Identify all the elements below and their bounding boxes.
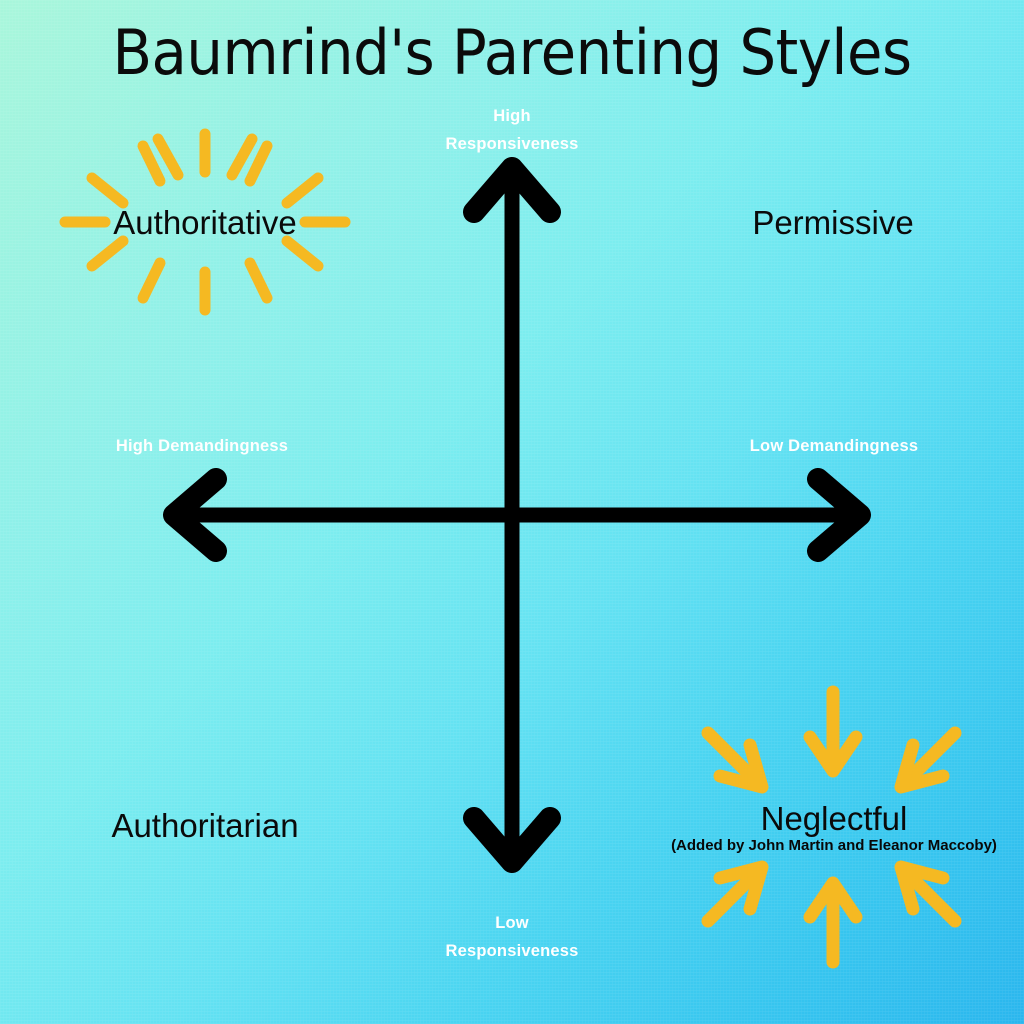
axis-cross xyxy=(0,0,1024,1024)
quadrant-label-neglectful: Neglectful xyxy=(684,802,984,835)
parenting-styles-diagram: Baumrind's Parenting Styles xyxy=(0,0,1024,1024)
quadrant-label-permissive: Permissive xyxy=(683,206,983,239)
quadrant-note-neglectful: (Added by John Martin and Eleanor Maccob… xyxy=(634,838,1024,853)
quadrant-label-authoritarian: Authoritarian xyxy=(55,809,355,842)
quadrant-label-authoritative: Authoritative xyxy=(55,206,355,239)
